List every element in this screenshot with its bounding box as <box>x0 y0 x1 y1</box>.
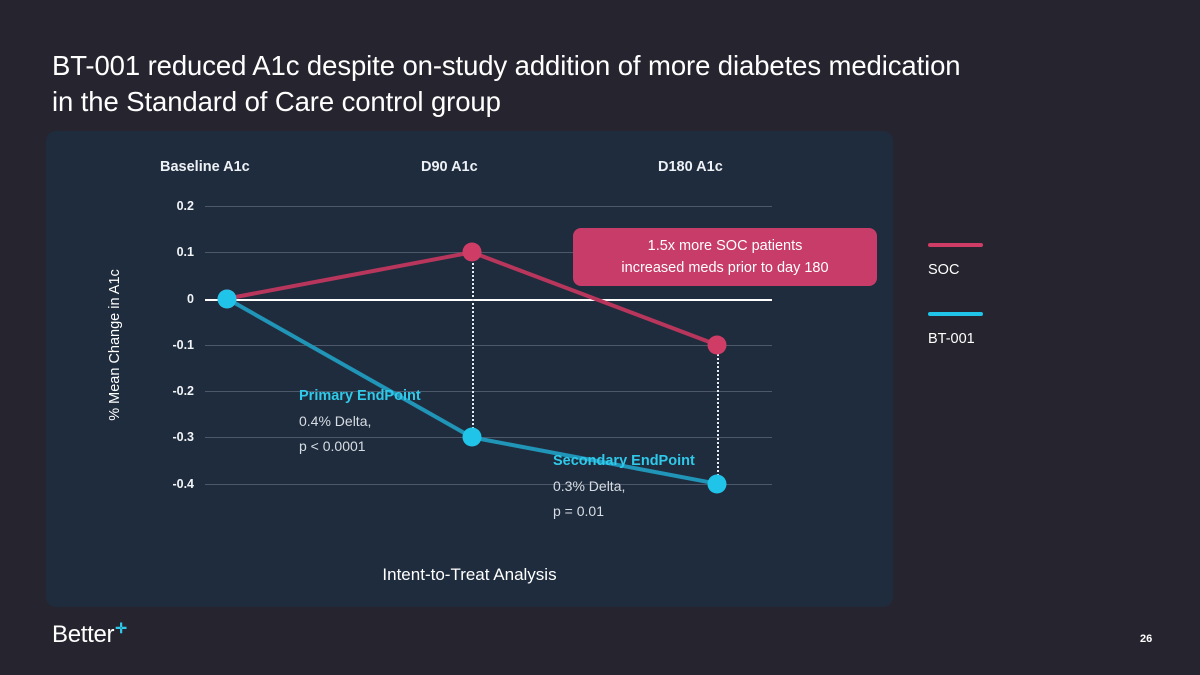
legend-swatch-soc <box>928 243 983 247</box>
annotation-delta: 0.3% Delta, <box>553 474 695 499</box>
data-point-soc-d180[interactable] <box>708 335 727 354</box>
chart-panel: Baseline A1c D90 A1c D180 A1c % Mean Cha… <box>46 131 893 607</box>
chart-caption: Intent-to-Treat Analysis <box>46 565 893 585</box>
y-axis-label: % Mean Change in A1c <box>107 230 123 460</box>
y-tick-label: 0.1 <box>177 245 194 259</box>
annotation-title: Secondary EndPoint <box>553 449 695 474</box>
annotation-pvalue: p < 0.0001 <box>299 434 421 459</box>
callout-line-1: 1.5x more SOC patients <box>648 235 803 257</box>
logo-plus-icon: ✛ <box>115 620 126 636</box>
data-point-soc-d90[interactable] <box>463 243 482 262</box>
y-tick-label: -0.4 <box>172 477 194 491</box>
y-tick-label: -0.3 <box>172 430 194 444</box>
legend-item-soc[interactable]: SOC <box>928 243 983 278</box>
column-header-d180: D180 A1c <box>658 159 723 175</box>
data-point-bt001-d180[interactable] <box>708 474 727 493</box>
annotation-delta: 0.4% Delta, <box>299 409 421 434</box>
annotation-pvalue: p = 0.01 <box>553 499 695 524</box>
annotation-secondary-endpoint: Secondary EndPoint 0.3% Delta, p = 0.01 <box>553 449 695 524</box>
y-tick-label: -0.1 <box>172 338 194 352</box>
logo-text: Better <box>52 621 114 648</box>
annotation-primary-endpoint: Primary EndPoint 0.4% Delta, p < 0.0001 <box>299 384 421 459</box>
chart-legend: SOC BT-001 <box>928 243 983 381</box>
callout-line-2: increased meds prior to day 180 <box>621 257 828 279</box>
legend-label-bt001: BT-001 <box>928 331 983 347</box>
annotation-title: Primary EndPoint <box>299 384 421 409</box>
data-point-bt001-d90[interactable] <box>463 428 482 447</box>
legend-swatch-bt001 <box>928 312 983 316</box>
data-point-bt001-baseline[interactable] <box>218 289 237 308</box>
callout-box: 1.5x more SOC patients increased meds pr… <box>573 228 877 286</box>
brand-logo: Better✛ <box>52 620 127 649</box>
page-number: 26 <box>1140 633 1152 645</box>
legend-label-soc: SOC <box>928 262 983 278</box>
column-header-d90: D90 A1c <box>421 159 478 175</box>
legend-item-bt001[interactable]: BT-001 <box>928 312 983 347</box>
page-title: BT-001 reduced A1c despite on-study addi… <box>52 48 1112 120</box>
y-tick-label: -0.2 <box>172 384 194 398</box>
column-header-baseline: Baseline A1c <box>160 159 250 175</box>
slide-canvas: BT-001 reduced A1c despite on-study addi… <box>0 0 1200 675</box>
y-tick-label: 0 <box>187 292 194 306</box>
y-tick-label: 0.2 <box>177 199 194 213</box>
